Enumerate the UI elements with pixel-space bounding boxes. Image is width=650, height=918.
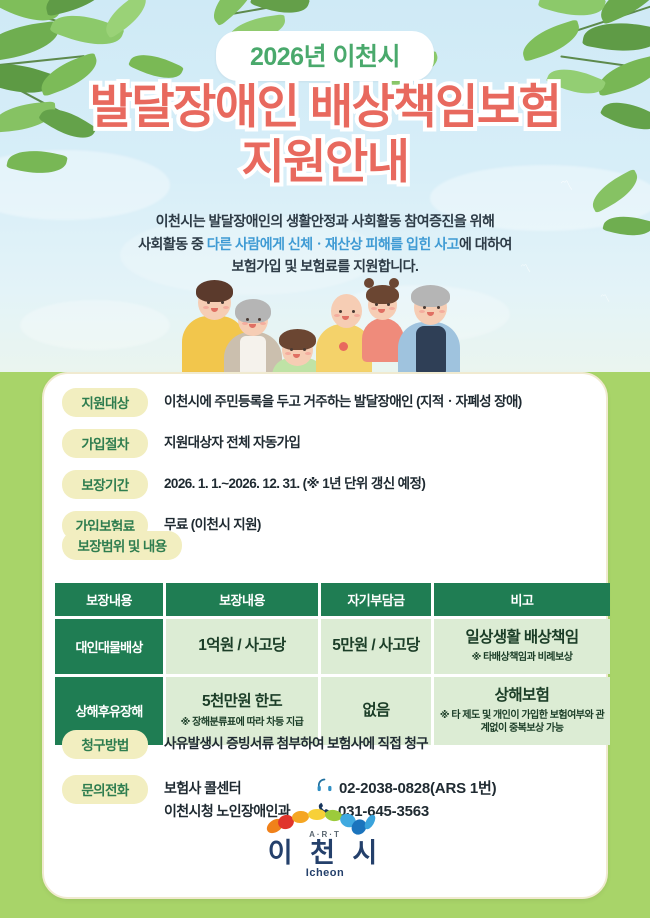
table-cell-deductible-value: 없음: [362, 702, 389, 719]
table-cell-amount-note: ※ 장해분류표에 따라 차등 지급: [170, 716, 314, 730]
logo-english-text: Icheon: [250, 867, 400, 879]
coverage-table: 보장내용 보장내용 자기부담금 비고 대인대물배상 1억원 / 사고당 5만원 …: [52, 580, 613, 748]
table-cell-remark-note: ※ 타배상책임과 비례보상: [438, 651, 606, 665]
info-value-period: 2026. 1. 1.~2026. 12. 31. (※ 1년 단위 갱신 예정…: [164, 470, 425, 494]
info-value-target: 이천시에 주민등록을 두고 거주하는 발달장애인 (지적ㆍ자폐성 장애): [164, 388, 522, 412]
content-card: 지원대상 이천시에 주민등록을 두고 거주하는 발달장애인 (지적ㆍ자폐성 장애…: [42, 372, 608, 899]
bird-icon: 〽: [600, 290, 610, 305]
headset-icon: [316, 777, 333, 798]
subtitle: 이천시는 발달장애인의 생활안정과 사회활동 참여증진을 위해 사회활동 중 다…: [0, 210, 650, 278]
subtitle-highlight: 다른 사람에게 신체ㆍ재산상 피해를 입힌 사고: [207, 236, 459, 252]
table-cell-amount-value: 5천만원 한도: [202, 693, 282, 710]
claim-label: 청구방법: [62, 730, 148, 759]
table-cell-remark-value: 상해보험: [495, 687, 550, 704]
info-list: 지원대상 이천시에 주민등록을 두고 거주하는 발달장애인 (지적ㆍ자폐성 장애…: [62, 388, 592, 552]
table-header-cell-1: 보장내용: [166, 583, 318, 616]
table-cell-deductible-liability: 5만원 / 사고당: [321, 619, 431, 674]
icheon-logo: A·R·T 이 천 시 Icheon: [250, 811, 400, 879]
table-header-row: 보장내용 보장내용 자기부담금 비고: [55, 583, 610, 616]
contact-label: 문의전화: [62, 775, 148, 804]
contact-number-callcenter-text[interactable]: 02-2038-0828(ARS 1번): [339, 777, 496, 798]
subtitle-line-2-post: 에 대하여: [459, 236, 512, 252]
info-value-procedure: 지원대상자 전체 자동가입: [164, 429, 300, 453]
contact-number-callcenter: 02-2038-0828(ARS 1번): [316, 777, 496, 798]
claim-value: 사유발생시 증빙서류 첨부하여 보험사에 직접 청구: [164, 730, 428, 754]
logo-mark: [250, 811, 400, 833]
family-illustration: [176, 276, 476, 378]
year-badge-label: 2026년 이천시: [250, 43, 400, 71]
claim-row: 청구방법 사유발생시 증빙서류 첨부하여 보험사에 직접 청구: [62, 730, 592, 759]
subtitle-line-3: 보험가입 및 보험료를 지원합니다.: [0, 255, 650, 278]
page-title: 발달장애인 배상책임보험 지원안내: [0, 79, 650, 190]
info-row-period: 보장기간 2026. 1. 1.~2026. 12. 31. (※ 1년 단위 …: [62, 470, 592, 499]
table-header-cell-2: 자기부담금: [321, 583, 431, 616]
table-cell-deductible-value: 5만원 / 사고당: [332, 637, 419, 654]
table-cell-amount-liability: 1억원 / 사고당: [166, 619, 318, 674]
subtitle-line-2: 사회활동 중 다른 사람에게 신체ㆍ재산상 피해를 입힌 사고에 대하여: [0, 233, 650, 256]
info-row-procedure: 가입절차 지원대상자 전체 자동가입: [62, 429, 592, 458]
section-heading-label: 보장범위 및 내용: [62, 531, 182, 560]
subtitle-line-1: 이천시는 발달장애인의 생활안정과 사회활동 참여증진을 위해: [0, 210, 650, 233]
table-cell-amount-value: 1억원 / 사고당: [198, 637, 285, 654]
subtitle-line-2-pre: 사회활동 중: [138, 236, 207, 252]
table-header-cell-3: 비고: [434, 583, 610, 616]
contact-line-callcenter: 보험사 콜센터 02-2038-0828(ARS 1번): [164, 777, 496, 798]
info-row-target: 지원대상 이천시에 주민등록을 두고 거주하는 발달장애인 (지적ㆍ자폐성 장애…: [62, 388, 592, 417]
section-heading-coverage: 보장범위 및 내용: [62, 531, 182, 560]
table-rowhead-liability: 대인대물배상: [55, 619, 163, 674]
info-label-period: 보장기간: [62, 470, 148, 499]
table-cell-remark-value: 일상생활 배상책임: [466, 629, 579, 646]
logo-korean-text: 이 천 시: [250, 839, 400, 867]
year-badge: 2026년 이천시: [216, 31, 434, 81]
table-cell-remark-liability: 일상생활 배상책임 ※ 타배상책임과 비례보상: [434, 619, 610, 674]
table-header-cell-0: 보장내용: [55, 583, 163, 616]
table-row: 대인대물배상 1억원 / 사고당 5만원 / 사고당 일상생활 배상책임 ※ 타…: [55, 619, 610, 674]
info-label-procedure: 가입절차: [62, 429, 148, 458]
cloud-shape: [20, 300, 170, 350]
poster: 〽 〽 〽 〽: [0, 0, 650, 918]
contact-org-callcenter: 보험사 콜센터: [164, 778, 316, 798]
info-label-target: 지원대상: [62, 388, 148, 417]
